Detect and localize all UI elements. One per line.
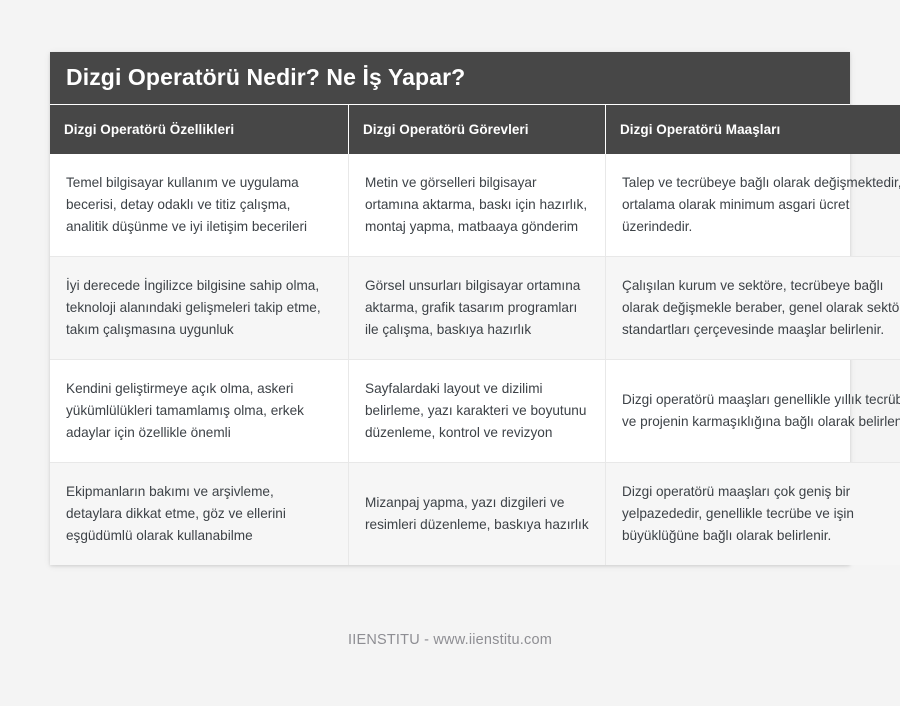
table-cell: Görsel unsurları bilgisayar ortamına akt… [349,257,606,360]
table-cell: Sayfalardaki layout ve dizilimi belirlem… [349,360,606,463]
table-row: İyi derecede İngilizce bilgisine sahip o… [50,257,900,360]
table-header-row: Dizgi Operatörü Özellikleri Dizgi Operat… [50,105,900,154]
card-title-bar: Dizgi Operatörü Nedir? Ne İş Yapar? [50,52,850,105]
footer-attribution: IIENSTITU - www.iienstitu.com [0,632,900,648]
comparison-table: Dizgi Operatörü Özellikleri Dizgi Operat… [50,105,900,565]
table-body: Temel bilgisayar kullanım ve uygulama be… [50,154,900,565]
table-card: Dizgi Operatörü Nedir? Ne İş Yapar? Dizg… [50,52,850,565]
infographic-page: Dizgi Operatörü Nedir? Ne İş Yapar? Dizg… [0,0,900,706]
column-header-gorevler: Dizgi Operatörü Görevleri [349,105,606,154]
table-cell: Metin ve görselleri bilgisayar ortamına … [349,154,606,257]
table-cell: Dizgi operatörü maaşları genellikle yıll… [606,360,900,463]
table-cell: Dizgi operatörü maaşları çok geniş bir y… [606,463,900,566]
table-row: Temel bilgisayar kullanım ve uygulama be… [50,154,900,257]
table-cell: Temel bilgisayar kullanım ve uygulama be… [50,154,349,257]
table-cell: Ekipmanların bakımı ve arşivleme, detayl… [50,463,349,566]
table-cell: Kendini geliştirmeye açık olma, askeri y… [50,360,349,463]
column-header-ozellikler: Dizgi Operatörü Özellikleri [50,105,349,154]
table-cell: İyi derecede İngilizce bilgisine sahip o… [50,257,349,360]
table-row: Kendini geliştirmeye açık olma, askeri y… [50,360,900,463]
table-cell: Talep ve tecrübeye bağlı olarak değişmek… [606,154,900,257]
column-header-maaslar: Dizgi Operatörü Maaşları [606,105,900,154]
page-title: Dizgi Operatörü Nedir? Ne İş Yapar? [66,65,465,90]
table-row: Ekipmanların bakımı ve arşivleme, detayl… [50,463,900,566]
table-cell: Çalışılan kurum ve sektöre, tecrübeye ba… [606,257,900,360]
table-cell: Mizanpaj yapma, yazı dizgileri ve resiml… [349,463,606,566]
table-header: Dizgi Operatörü Özellikleri Dizgi Operat… [50,105,900,154]
